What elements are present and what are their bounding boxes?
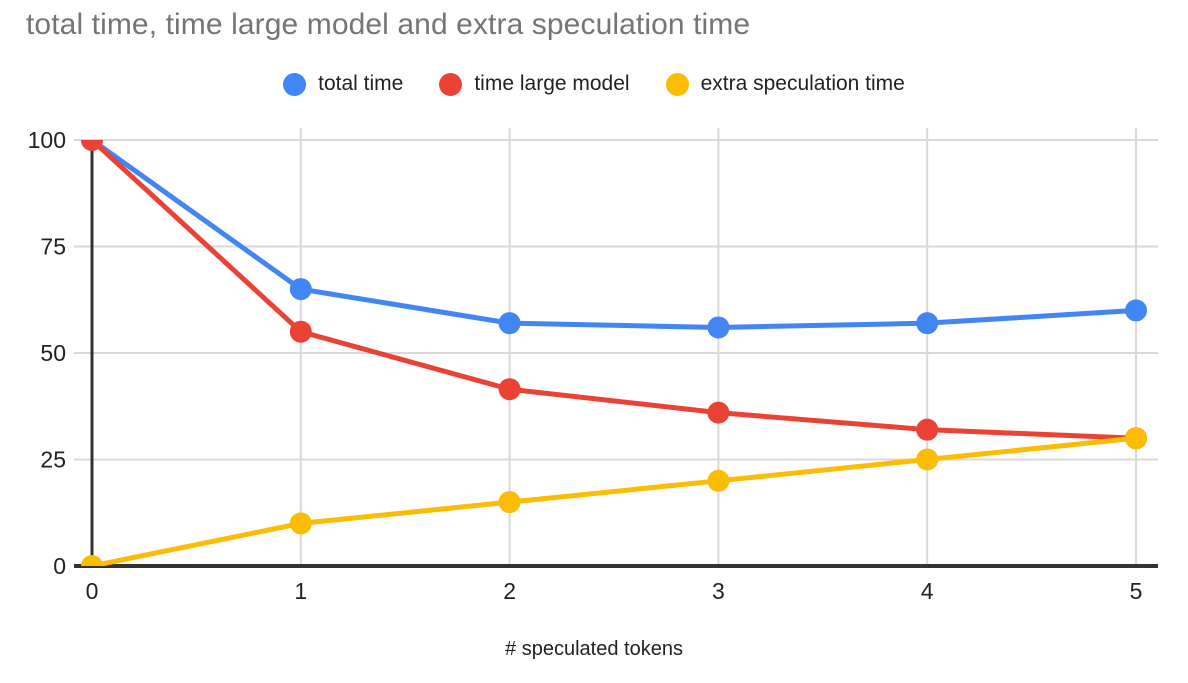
x-axis-tick-labels: 012345: [86, 578, 1143, 604]
y-axis-tick-labels: 0255075100: [28, 127, 66, 579]
data-point-marker[interactable]: [290, 321, 312, 343]
x-axis-tick-label: 2: [503, 578, 516, 604]
y-axis-tick-label: 75: [40, 234, 66, 260]
data-point-marker[interactable]: [499, 378, 521, 400]
data-point-marker[interactable]: [290, 512, 312, 534]
data-point-marker[interactable]: [81, 129, 103, 151]
data-point-marker[interactable]: [499, 491, 521, 513]
data-point-marker[interactable]: [916, 449, 938, 471]
chart-svg: 0255075100 012345: [0, 0, 1188, 683]
gridlines: [74, 128, 1158, 566]
x-axis-tick-label: 5: [1130, 578, 1143, 604]
series-line: [92, 140, 1136, 438]
data-point-marker[interactable]: [707, 316, 729, 338]
chart-container: total time, time large model and extra s…: [0, 0, 1188, 683]
y-axis-tick-label: 50: [40, 340, 66, 366]
y-axis-tick-label: 100: [28, 127, 66, 153]
data-point-marker[interactable]: [707, 402, 729, 424]
x-axis-tick-label: 0: [86, 578, 99, 604]
data-point-marker[interactable]: [707, 470, 729, 492]
y-axis-tick-label: 25: [40, 447, 66, 473]
data-point-marker[interactable]: [1125, 299, 1147, 321]
data-point-marker[interactable]: [916, 419, 938, 441]
data-point-marker[interactable]: [916, 312, 938, 334]
series-line: [92, 438, 1136, 566]
x-axis-tick-label: 4: [921, 578, 934, 604]
x-axis-tick-label: 1: [294, 578, 307, 604]
data-point-marker[interactable]: [290, 278, 312, 300]
series-line: [92, 140, 1136, 327]
plot-area: 0255075100 012345: [0, 0, 1188, 683]
data-point-marker[interactable]: [499, 312, 521, 334]
x-axis-title: # speculated tokens: [0, 638, 1188, 661]
y-axis-tick-label: 0: [53, 553, 66, 579]
data-point-marker[interactable]: [81, 555, 103, 577]
data-point-marker[interactable]: [1125, 427, 1147, 449]
x-axis-tick-label: 3: [712, 578, 725, 604]
